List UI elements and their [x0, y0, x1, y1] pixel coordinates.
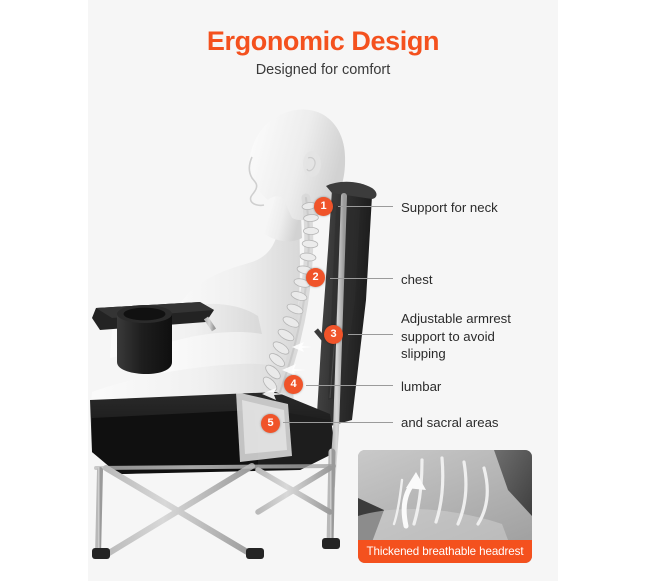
inset-caption: Thickened breathable headrest: [358, 540, 532, 563]
callout-badge-2: 2: [306, 268, 325, 287]
callout-label-sacral-areas: and sacral areas: [401, 414, 499, 432]
callout-label-adjustable-armrest: Adjustable armrest support to avoid slip…: [401, 310, 541, 363]
callout-label-chest: chest: [401, 271, 433, 289]
leader-line-3: [348, 334, 393, 335]
callout-label-support-for-neck: Support for neck: [401, 199, 498, 217]
headrest-inset-image: Thickened breathable headrest: [358, 450, 532, 563]
callout-label-lumbar: lumbar: [401, 378, 441, 396]
leader-line-1: [338, 206, 393, 207]
leader-line-2: [330, 278, 393, 279]
mannequin-ear: [303, 151, 321, 177]
callout-badge-1: 1: [314, 197, 333, 216]
callout-badge-4: 4: [284, 375, 303, 394]
chair-seat-skirt: [92, 410, 258, 474]
leader-line-4: [306, 385, 393, 386]
callout-badge-3: 3: [324, 325, 343, 344]
infographic-page: Ergonomic Design Designed for comfort: [0, 0, 650, 581]
callout-badge-5: 5: [261, 414, 280, 433]
cup-holder: [117, 305, 172, 374]
leader-line-5: [283, 422, 393, 423]
product-illustration: [0, 0, 650, 581]
